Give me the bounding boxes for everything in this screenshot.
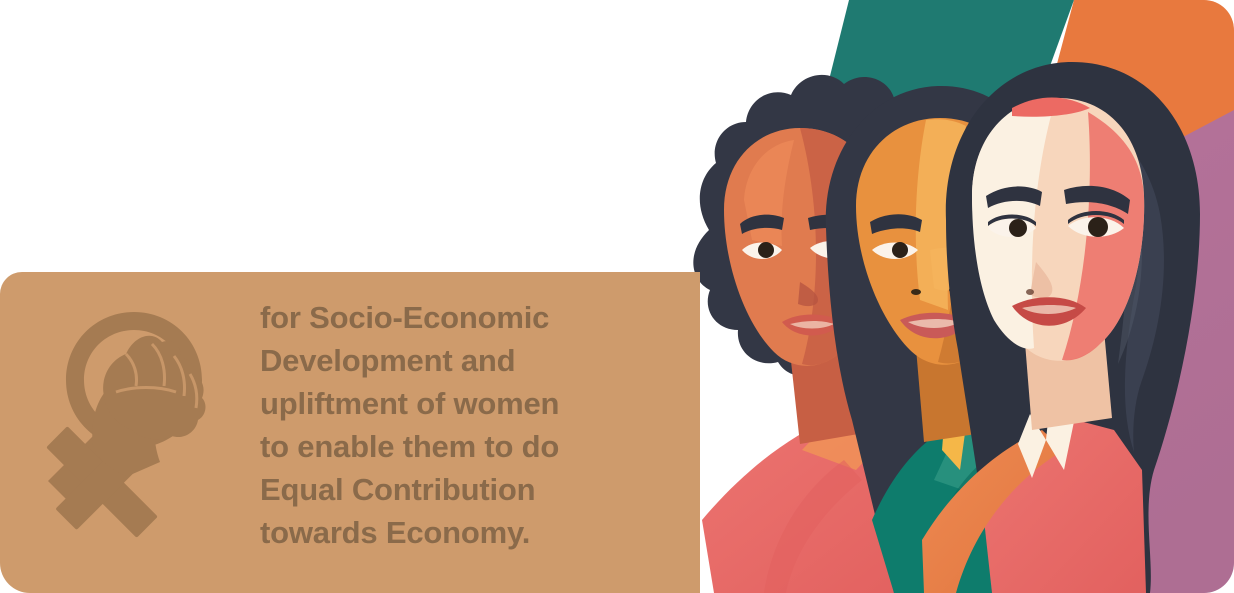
banner-message: for Socio-Economic Development and uplif… bbox=[260, 296, 640, 554]
banner-message-line-1: for Socio-Economic bbox=[260, 296, 640, 339]
banner-message-line-2: Development and bbox=[260, 339, 640, 382]
banner-message-line-6: towards Economy. bbox=[260, 511, 640, 554]
banner-message-line-3: upliftment of women bbox=[260, 382, 640, 425]
banner-message-line-5: Equal Contribution bbox=[260, 468, 640, 511]
promo-card: for Socio-Economic Development and uplif… bbox=[0, 0, 1234, 593]
woman-center-nostril-left bbox=[911, 289, 921, 295]
banner-message-line-4: to enable them to do bbox=[260, 425, 640, 468]
feminist-raised-fist-venus-symbol-icon bbox=[30, 300, 220, 550]
